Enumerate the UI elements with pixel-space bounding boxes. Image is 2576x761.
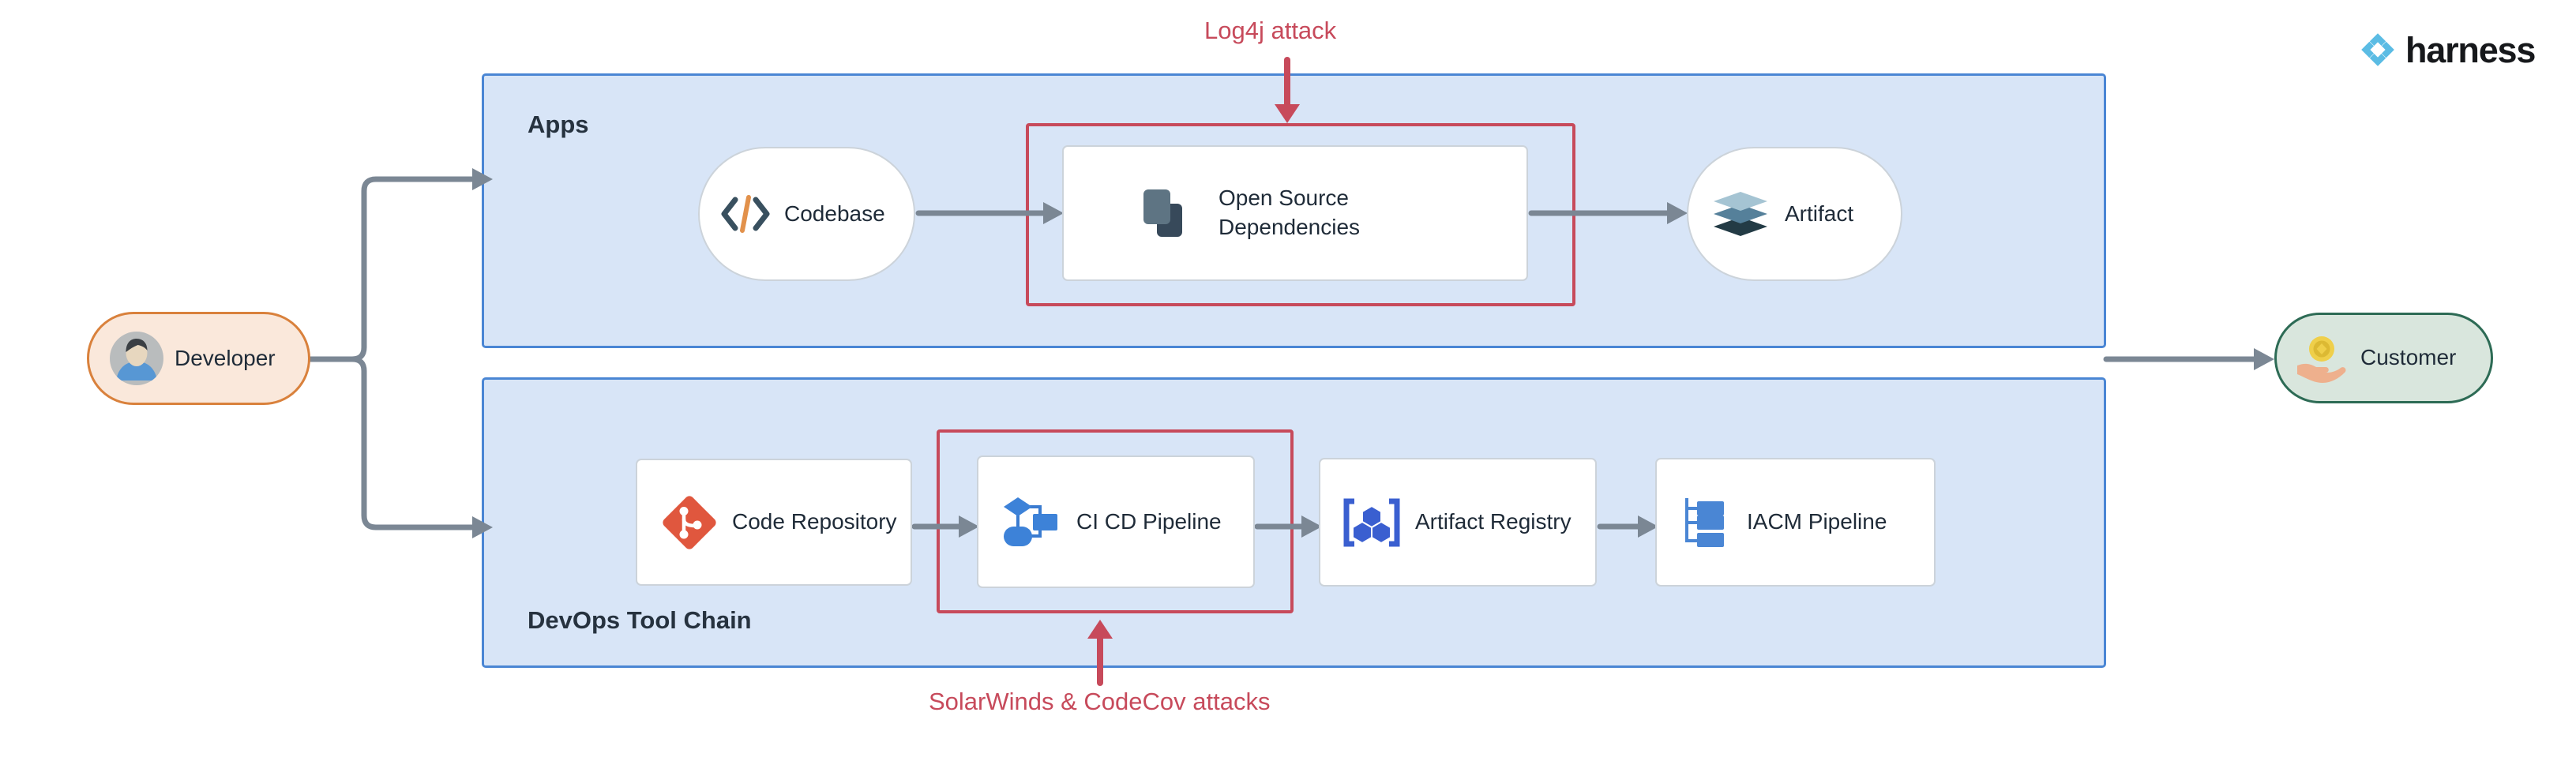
connector-open-source-dependencies-to-artifact <box>1531 201 1689 225</box>
harness-logo: harness <box>2360 32 2535 68</box>
registry-cubes-icon <box>1342 497 1401 549</box>
node-ci-cd-pipeline[interactable]: CI CD Pipeline <box>977 455 1255 588</box>
attack-label-solarwinds-codecov: SolarWinds & CodeCov attacks <box>929 689 1270 714</box>
group-title-devops-tool-chain: DevOps Tool Chain <box>528 606 752 635</box>
git-branch-icon <box>661 494 718 551</box>
node-label-open-source-dependencies: Open Source Dependencies <box>1219 184 1360 242</box>
harness-diamond-logo-icon <box>2360 32 2396 68</box>
group-title-apps: Apps <box>528 111 589 139</box>
diagram-canvas: harness Apps DevOps Tool Chain <box>0 0 2576 761</box>
flowchart-pipeline-icon <box>1002 492 1062 552</box>
node-label-artifact-registry: Artifact Registry <box>1415 508 1572 537</box>
node-label-iacm-pipeline: IACM Pipeline <box>1747 508 1887 537</box>
stacked-packages-icon <box>1140 186 1190 240</box>
user-avatar-icon <box>108 330 165 387</box>
node-code-repository[interactable]: Code Repository <box>636 459 912 586</box>
connector-artifact-registry-to-iacm-pipeline <box>1600 515 1660 538</box>
connector-developer-to-panels <box>310 162 492 549</box>
node-label-codebase: Codebase <box>784 200 885 229</box>
node-label-ci-cd-pipeline: CI CD Pipeline <box>1076 508 1222 537</box>
node-codebase[interactable]: Codebase <box>698 147 915 281</box>
hand-holding-coin-icon <box>2294 332 2351 384</box>
node-artifact-registry[interactable]: Artifact Registry <box>1319 458 1597 587</box>
node-label-code-repository: Code Repository <box>732 508 897 537</box>
attack-arrow-log4j-down-icon <box>1273 60 1301 126</box>
node-iacm-pipeline[interactable]: IACM Pipeline <box>1655 458 1936 587</box>
node-developer[interactable]: Developer <box>87 312 310 405</box>
connector-ci-cd-pipeline-to-artifact-registry <box>1257 515 1324 538</box>
node-artifact[interactable]: Artifact <box>1687 147 1902 281</box>
connector-code-repository-to-ci-cd-pipeline <box>914 515 981 538</box>
node-label-customer: Customer <box>2360 343 2456 373</box>
tree-bars-icon <box>1680 495 1731 550</box>
node-customer[interactable]: Customer <box>2274 313 2493 403</box>
brand-wordmark: harness <box>2405 32 2535 68</box>
node-label-developer: Developer <box>175 344 276 373</box>
attack-arrow-solarwinds-codecov-up-icon <box>1086 617 1114 683</box>
code-brackets-icon <box>719 192 772 236</box>
node-open-source-dependencies[interactable]: Open Source Dependencies <box>1062 145 1528 281</box>
attack-label-log4j: Log4j attack <box>1204 18 1336 43</box>
node-label-artifact: Artifact <box>1785 200 1853 229</box>
layers-stack-icon <box>1712 187 1769 241</box>
connector-codebase-to-open-source-dependencies <box>918 201 1065 225</box>
connector-apps-to-customer <box>2106 347 2276 371</box>
